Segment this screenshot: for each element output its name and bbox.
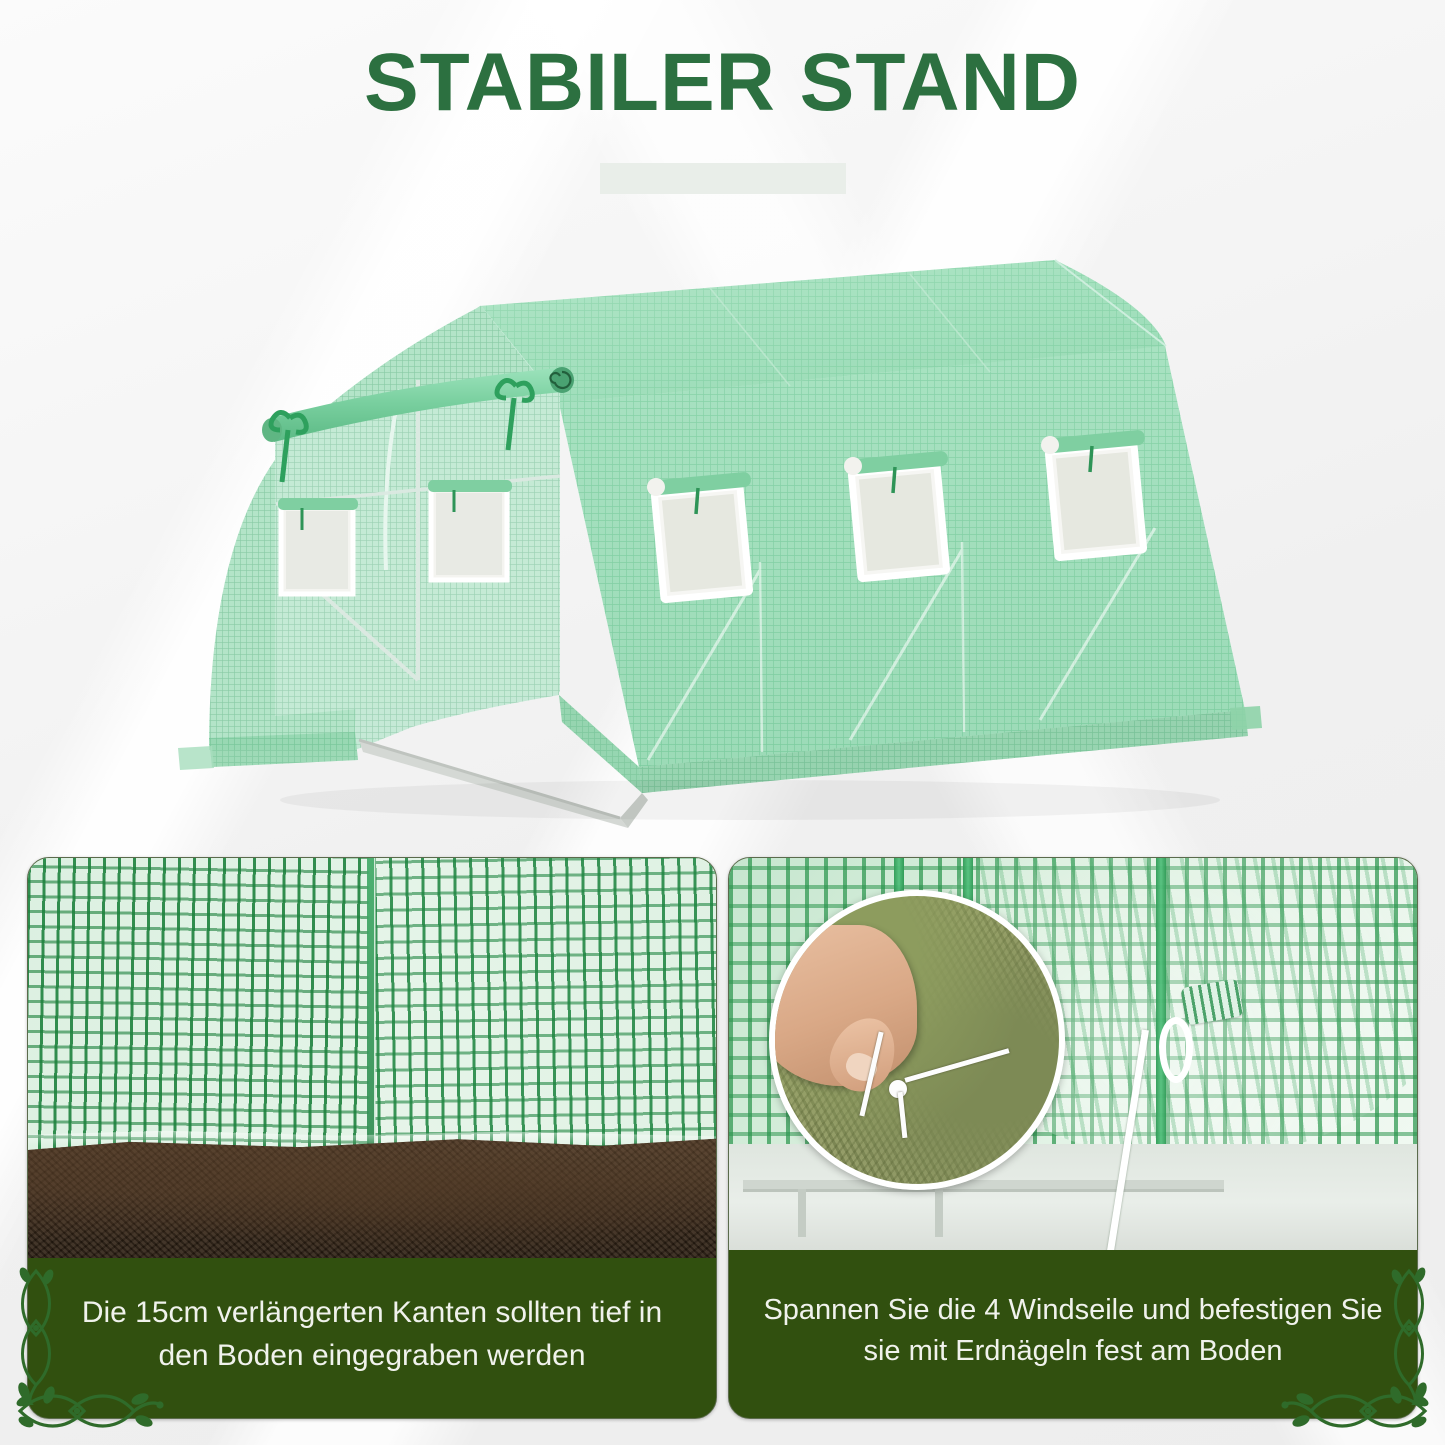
frame-post-2: [935, 1189, 943, 1238]
side-window-3: [1041, 430, 1146, 558]
front-window-right: [428, 480, 512, 580]
soil-bed: [28, 1130, 716, 1258]
frame-rib-3: [1156, 858, 1166, 1156]
product-shadow: [280, 780, 1220, 820]
page-title: STABILER STAND: [0, 36, 1445, 130]
peg-cord: [904, 1048, 1009, 1083]
side-window-2: [844, 451, 949, 579]
title-underbar: [600, 163, 846, 194]
greenhouse-illustration: [150, 240, 1310, 840]
panel-guy-ropes: Spannen Sie die 4 Windseile und befestig…: [728, 857, 1418, 1419]
front-window-left: [278, 498, 358, 594]
inset-photo-ground-peg: [769, 890, 1065, 1190]
frame-post-1: [798, 1189, 806, 1238]
peg-spike: [898, 1092, 908, 1138]
side-window-1: [647, 472, 752, 600]
corner-flourish-right-vertical: [1381, 1265, 1437, 1405]
photo-buried-edges: [28, 858, 716, 1258]
mesh-corner-seam: [367, 858, 374, 1154]
panel-buried-edges: Die 15cm verlängerten Kanten sollten tie…: [27, 857, 717, 1419]
corner-flourish-left-vertical: [8, 1265, 64, 1405]
hero-greenhouse-image: [150, 240, 1310, 840]
vine-flourish-vertical-icon: [8, 1265, 64, 1405]
photo-guy-ropes: [729, 858, 1417, 1250]
infographic-page: STABILER STAND: [0, 0, 1445, 1445]
vine-flourish-vertical-icon: [1381, 1265, 1437, 1405]
ground-rail: [743, 1180, 1225, 1189]
